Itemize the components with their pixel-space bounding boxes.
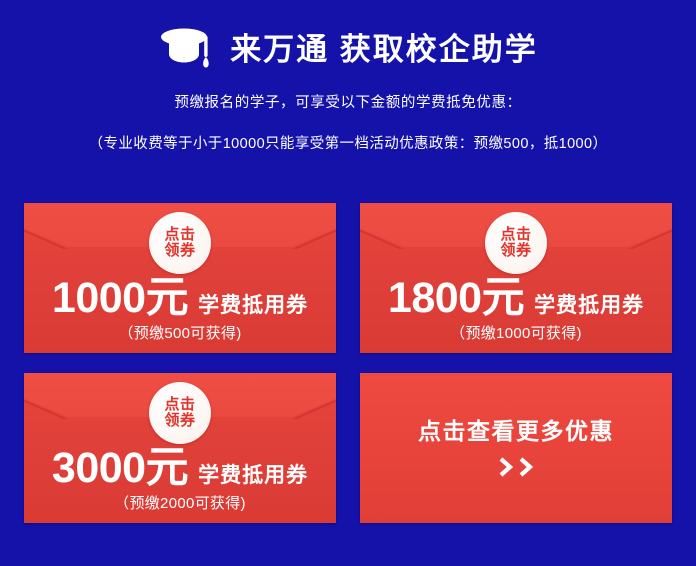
claim-coupon-badge[interactable]: 点击 领券 <box>485 212 547 274</box>
coupon-condition-note: （预缴2000可获得) <box>24 496 336 511</box>
graduation-cap-icon <box>158 24 216 74</box>
badge-line-2: 领券 <box>164 243 195 259</box>
view-more-offers-button[interactable]: 点击查看更多优惠 <box>360 373 672 523</box>
view-more-label: 点击查看更多优惠 <box>418 420 614 443</box>
subtitle-secondary: （专业收费等于小于10000只能享受第一档活动优惠政策：预缴500，抵1000） <box>0 137 696 152</box>
banner-header: 来万通 获取校企助学 <box>0 24 696 74</box>
coupon-amount-row: 1800元 学费抵用券 <box>360 277 672 320</box>
claim-coupon-badge[interactable]: 点击 领券 <box>149 212 211 274</box>
coupon-amount: 3000元 <box>52 447 188 490</box>
badge-line-1: 点击 <box>164 397 195 413</box>
claim-coupon-badge[interactable]: 点击 领券 <box>149 382 211 444</box>
page-title: 来万通 获取校企助学 <box>230 34 538 65</box>
coupon-type-label: 学费抵用券 <box>198 465 308 486</box>
chevron-right-icon <box>519 457 534 477</box>
coupon-condition-note: （预缴500可获得) <box>24 326 336 341</box>
coupon-amount: 1000元 <box>52 277 188 320</box>
coupon-type-label: 学费抵用券 <box>534 295 644 316</box>
coupon-card[interactable]: 点击 领券 1800元 学费抵用券 （预缴1000可获得) <box>360 203 672 353</box>
coupon-amount-row: 3000元 学费抵用券 <box>24 447 336 490</box>
chevron-right-icon <box>499 457 514 477</box>
badge-line-1: 点击 <box>164 227 195 243</box>
coupon-condition-note: （预缴1000可获得) <box>360 326 672 341</box>
double-chevron-right-icon <box>499 457 534 477</box>
coupon-amount: 1800元 <box>388 277 524 320</box>
subtitle-primary: 预缴报名的学子，可享受以下金额的学费抵免优惠： <box>0 96 696 111</box>
subtitle-block: 预缴报名的学子，可享受以下金额的学费抵免优惠： （专业收费等于小于10000只能… <box>0 96 696 151</box>
coupon-type-label: 学费抵用券 <box>198 295 308 316</box>
coupon-amount-row: 1000元 学费抵用券 <box>24 277 336 320</box>
badge-line-2: 领券 <box>164 413 195 429</box>
badge-line-2: 领券 <box>500 243 531 259</box>
coupon-card[interactable]: 点击 领券 3000元 学费抵用券 （预缴2000可获得) <box>24 373 336 523</box>
coupon-grid: 点击 领券 1000元 学费抵用券 （预缴500可获得) 点击 领券 1800元… <box>24 203 672 523</box>
promotion-banner: 来万通 获取校企助学 预缴报名的学子，可享受以下金额的学费抵免优惠： （专业收费… <box>0 0 696 566</box>
badge-line-1: 点击 <box>500 227 531 243</box>
coupon-card[interactable]: 点击 领券 1000元 学费抵用券 （预缴500可获得) <box>24 203 336 353</box>
